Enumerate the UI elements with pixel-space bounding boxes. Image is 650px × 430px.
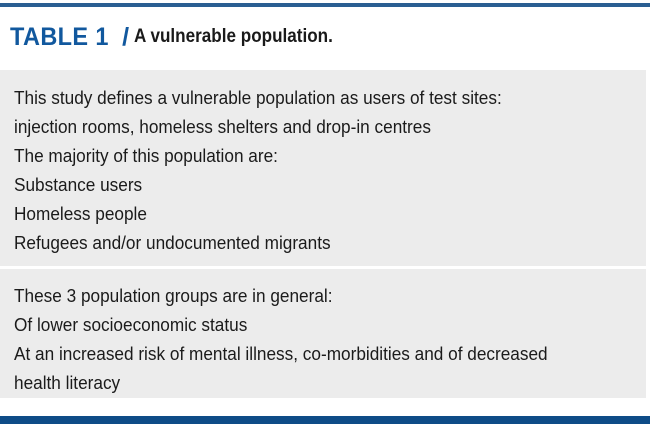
- table-caption: TABLE 1 / A vulnerable population.: [10, 18, 640, 56]
- table-row: injection rooms, homeless shelters and d…: [14, 112, 602, 141]
- table-section-definition: This study defines a vulnerable populati…: [0, 70, 646, 266]
- table-row: These 3 population groups are in general…: [14, 281, 602, 310]
- table-row: Homeless people: [14, 199, 602, 228]
- table-row: This study defines a vulnerable populati…: [14, 83, 602, 112]
- table-caption-separator: /: [122, 23, 129, 52]
- table-row: Refugees and/or undocumented migrants: [14, 228, 602, 257]
- table-row: At an increased risk of mental illness, …: [14, 339, 602, 368]
- table-caption-title: A vulnerable population.: [134, 26, 333, 48]
- table-section-characteristics: These 3 population groups are in general…: [0, 269, 646, 407]
- table-caption-label: TABLE 1: [10, 23, 109, 52]
- table-row: health literacy: [14, 368, 602, 397]
- table-figure: TABLE 1 / A vulnerable population. This …: [0, 0, 650, 430]
- table-row: Substance users: [14, 170, 602, 199]
- table-body: This study defines a vulnerable populati…: [0, 70, 646, 398]
- table-row: Of lower socioeconomic status: [14, 310, 602, 339]
- table-row: The majority of this population are:: [14, 141, 602, 170]
- table-bottom-rule: [0, 416, 650, 424]
- table-top-rule: [0, 3, 650, 7]
